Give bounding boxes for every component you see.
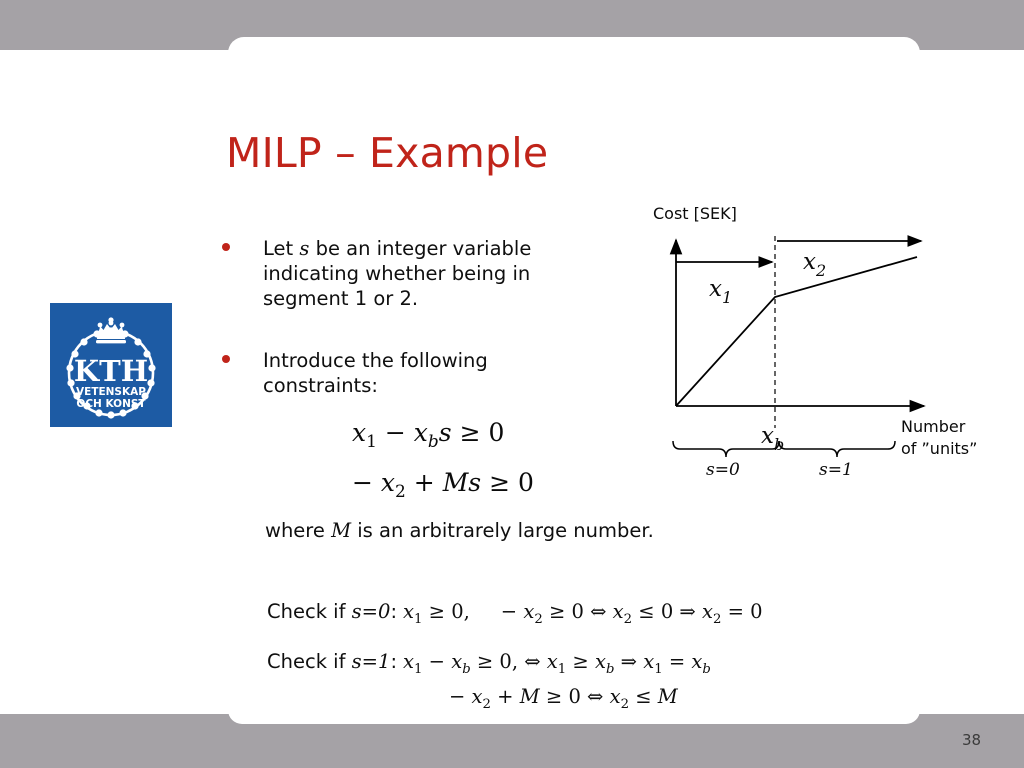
equation-constraint-1: x1 − xbs ≥ 0	[352, 418, 504, 452]
bullet-item-1: Let s be an integer variable indicating …	[222, 236, 622, 311]
check-s1-math: x1 − xb ≥ 0, ⇔ x1 ≥ xb ⇒ x1 = xb	[403, 650, 711, 673]
check-s1-label: Check if	[267, 650, 352, 673]
equation-constraint-2: − x2 + Ms ≥ 0	[352, 468, 534, 502]
y-axis-label: Cost [SEK]	[653, 204, 737, 223]
x-axis-label-line-2: of ”units”	[901, 439, 977, 458]
bullet-dot-icon	[222, 243, 230, 251]
where-suffix: is an arbitrarely large number.	[351, 519, 654, 542]
bullet-1-variable: s	[299, 237, 309, 260]
cost-function-chart: Cost [SEK] x1 x2 xb Number of ”units” s=…	[636, 200, 1024, 490]
check-s0-colon: :	[390, 600, 397, 623]
kth-logo: KTH VETENSKAP OCH KONST	[50, 303, 172, 427]
check-line-s1-second: − x2 + M ≥ 0 ⇔ x2 ≤ M	[443, 685, 678, 712]
page-title: MILP – Example	[226, 129, 548, 177]
slide-canvas: 38 MILP – Example	[0, 0, 1024, 768]
x-axis-label-line-1: Number	[901, 417, 966, 436]
bullet-item-2: Introduce the following constraints:	[222, 348, 622, 398]
bullet-1-prefix: Let	[263, 237, 299, 260]
bullet-dot-icon	[222, 355, 230, 363]
x1-label: x1	[709, 276, 732, 307]
check-line-s1: Check if s=1:x1 − xb ≥ 0, ⇔ x1 ≥ xb ⇒ x1…	[267, 650, 711, 677]
page-number: 38	[962, 731, 1002, 749]
check-s0-math: x1 ≥ 0, − x2 ≥ 0 ⇔ x2 ≤ 0 ⇒ x2 = 0	[403, 600, 763, 623]
kth-motto-line-2: OCH KONST	[76, 398, 146, 410]
where-note: where M is an arbitrarely large number.	[265, 518, 654, 543]
where-variable: M	[331, 519, 351, 542]
kth-motto-line-1: VETENSKAP	[76, 386, 146, 398]
check-s0-case: s=0	[352, 600, 391, 623]
bullet-item-2-text: Introduce the following constraints:	[263, 348, 603, 398]
brace-s0-label: s=0	[706, 460, 740, 480]
x2-label: x2	[803, 249, 826, 280]
check-s1-colon: :	[390, 650, 397, 673]
kth-wordmark: KTH	[74, 354, 148, 388]
check-s1-math-second: − x2 + M ≥ 0 ⇔ x2 ≤ M	[449, 685, 678, 708]
check-s0-label: Check if	[267, 600, 352, 623]
brace-s1	[779, 441, 895, 457]
bullet-item-1-text: Let s be an integer variable indicating …	[263, 236, 603, 311]
check-s1-case: s=1	[352, 650, 391, 673]
brace-s1-label: s=1	[819, 460, 853, 480]
check-line-s0: Check if s=0:x1 ≥ 0, − x2 ≥ 0 ⇔ x2 ≤ 0 ⇒…	[267, 600, 763, 627]
where-prefix: where	[265, 519, 331, 542]
